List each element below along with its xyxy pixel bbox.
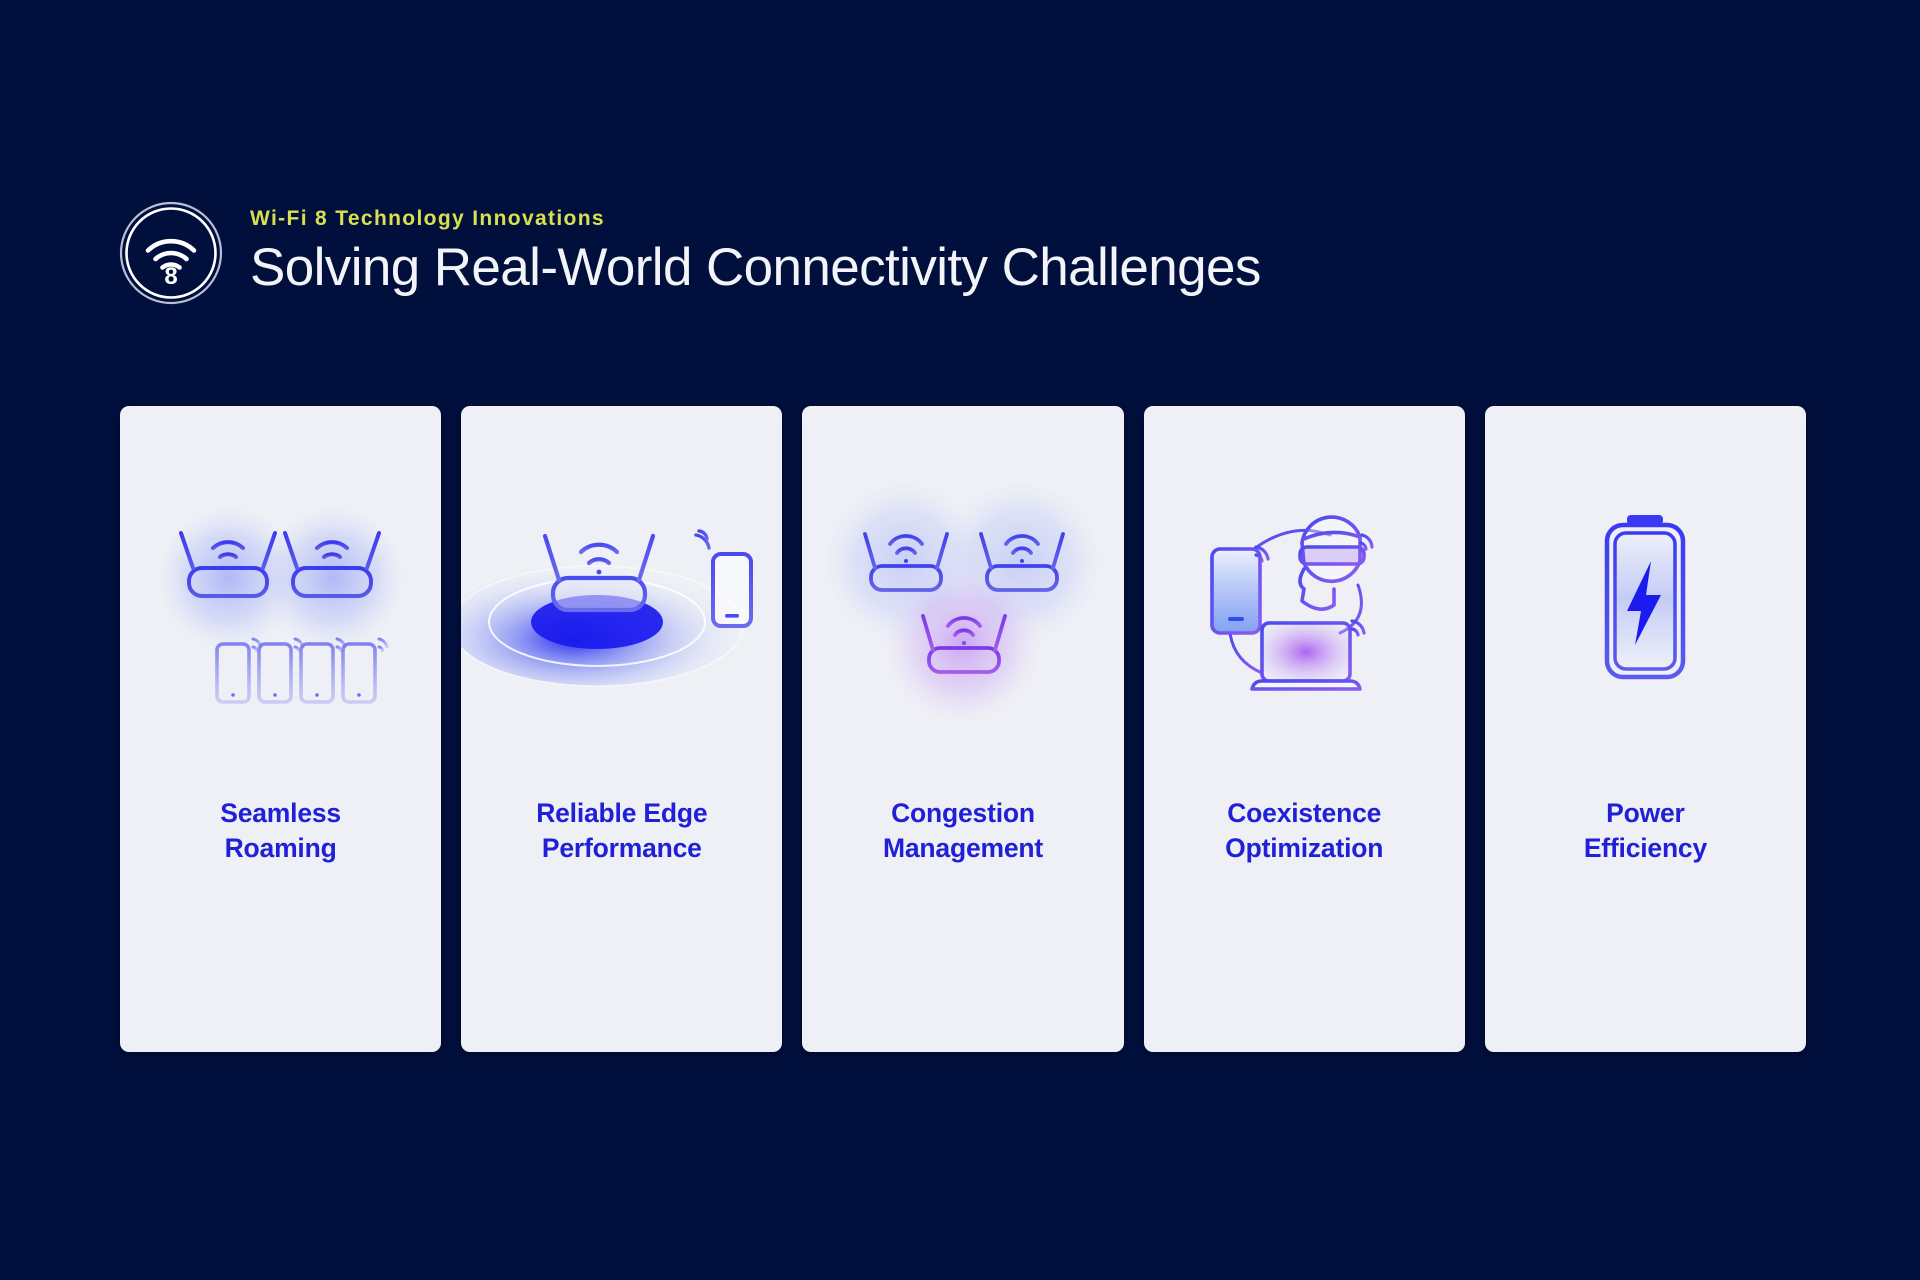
feature-card-grid: Seamless Roaming	[120, 406, 1806, 1052]
eyebrow-label: Wi-Fi 8 Technology Innovations	[250, 207, 1261, 231]
header-text-block: Wi-Fi 8 Technology Innovations Solving R…	[250, 207, 1261, 299]
card-congestion-management[interactable]: Congestion Management	[802, 406, 1123, 1052]
card-reliable-edge-performance[interactable]: Reliable Edge Performance	[461, 406, 782, 1052]
phone-vr-headset-laptop-mesh-icon	[1144, 406, 1465, 796]
card-label: Congestion Management	[873, 796, 1053, 866]
battery-lightning-bolt-icon	[1485, 406, 1806, 796]
page-header: 8 Wi-Fi 8 Technology Innovations Solving…	[118, 200, 1261, 306]
page-title: Solving Real-World Connectivity Challeng…	[250, 240, 1261, 295]
card-label: Coexistence Optimization	[1215, 796, 1393, 866]
svg-text:8: 8	[164, 263, 177, 290]
card-label: Reliable Edge Performance	[526, 796, 717, 866]
card-label: Seamless Roaming	[210, 796, 351, 866]
card-power-efficiency[interactable]: Power Efficiency	[1485, 406, 1806, 1052]
card-label: Power Efficiency	[1574, 796, 1717, 866]
wifi-8-circle-icon: 8	[118, 200, 224, 306]
router-coverage-rings-phone-icon	[461, 406, 782, 796]
three-overlapping-router-cells-icon	[802, 406, 1123, 796]
card-coexistence-optimization[interactable]: Coexistence Optimization	[1144, 406, 1465, 1052]
card-seamless-roaming[interactable]: Seamless Roaming	[120, 406, 441, 1052]
two-routers-handoff-phones-icon	[120, 406, 441, 796]
